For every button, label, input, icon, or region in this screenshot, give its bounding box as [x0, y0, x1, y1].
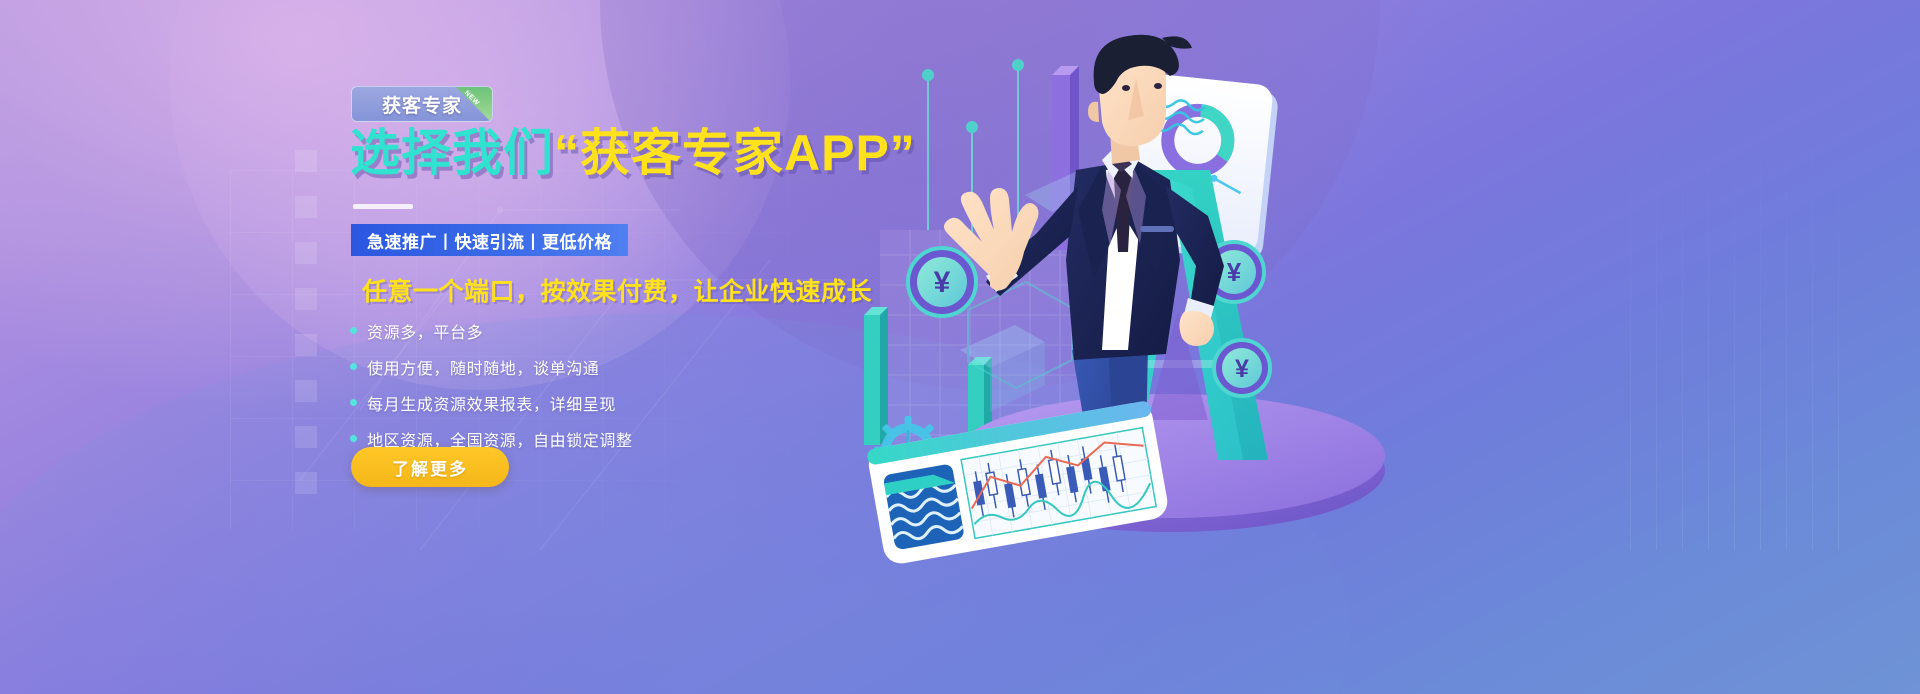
bullet-dot-icon [350, 363, 357, 370]
banner-content: 获客专家 NEW 选择我们“获客专家APP” 急速推广丨快速引流丨更低价格 任意… [350, 0, 970, 694]
list-item: 每月生成资源效果报表，详细呈现 [350, 386, 633, 419]
page-title: 选择我们“获客专家APP” [350, 128, 916, 178]
bullet-dot-icon [350, 399, 357, 406]
learn-more-button[interactable]: 了解更多 [351, 447, 509, 487]
list-item-label: 资源多，平台多 [367, 319, 483, 343]
list-item: 使用方便，随时随地，谈单沟通 [350, 350, 633, 383]
svg-text:¥: ¥ [1227, 257, 1242, 287]
bullet-dot-icon [350, 327, 357, 334]
feature-bar: 急速推广丨快速引流丨更低价格 [351, 224, 628, 256]
promo-banner: ¥ ¥ ¥ [0, 0, 1920, 694]
title-divider [353, 204, 413, 209]
product-badge-label: 获客专家 [382, 91, 462, 118]
headline-accent: “获客专家APP” [554, 125, 916, 181]
learn-more-button-label: 了解更多 [392, 455, 468, 480]
list-item-label: 每月生成资源效果报表，详细呈现 [367, 391, 616, 415]
background-square-column [295, 150, 339, 510]
headline-primary: 选择我们 [350, 125, 554, 181]
svg-text:¥: ¥ [1235, 355, 1249, 383]
list-item-label: 使用方便，随时随地，谈单沟通 [367, 355, 599, 379]
product-badge: 获客专家 NEW [351, 86, 493, 122]
tagline: 任意一个端口，按效果付费，让企业快速成长 [362, 272, 872, 308]
feature-bar-label: 急速推广丨快速引流丨更低价格 [367, 228, 612, 253]
bullet-dot-icon [350, 435, 357, 442]
yen-coin: ¥ [1214, 340, 1270, 396]
background-grid-right [1630, 120, 1860, 550]
benefit-list: 资源多，平台多 使用方便，随时随地，谈单沟通 每月生成资源效果报表，详细呈现 地… [350, 314, 633, 458]
list-item: 资源多，平台多 [350, 314, 633, 347]
